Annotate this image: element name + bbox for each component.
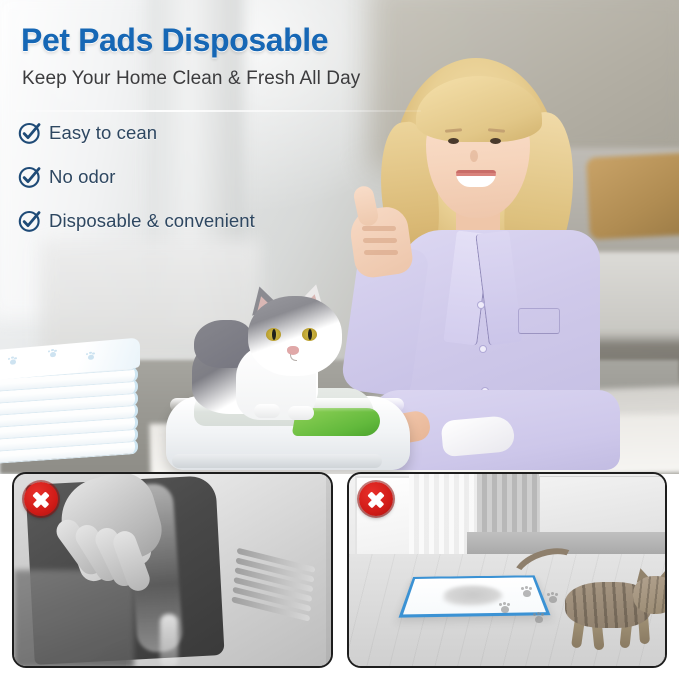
pajama-pocket [518,308,560,334]
feature-item: Easy to cean [18,118,398,148]
feature-label: Disposable & convenient [49,210,255,232]
pajama-button [478,302,484,308]
feature-item: No odor [18,162,398,192]
panel-washing [12,472,333,668]
white-sock [441,415,516,457]
eye-left [448,138,459,144]
cat-eye-right [302,328,317,341]
knuckle-line [364,250,398,255]
paw-print-icon [86,351,95,360]
shadow-area [14,570,134,668]
paw-print-icon [8,356,17,365]
x-badge-icon [359,482,393,516]
running-water [160,614,178,668]
product-poster: Pet Pads Disposable Keep Your Home Clean… [0,0,679,674]
cat-pupil [308,329,312,340]
pajama-button [480,346,486,352]
feature-label: Easy to cean [49,122,157,144]
litter-box-front-lip [172,454,382,468]
hero-image: Pet Pads Disposable Keep Your Home Clean… [0,0,679,474]
eye-right [490,138,501,144]
paw-print-icon [48,349,57,358]
pad-stack [0,352,142,456]
check-circle-icon [18,121,42,145]
kitten-head [633,576,668,614]
divider [16,110,421,112]
comparison-panels [0,472,679,668]
feature-label: No odor [49,166,116,188]
x-badge-icon [24,482,58,516]
page-title: Pet Pads Disposable [21,22,328,59]
kitten [559,556,668,656]
cat-in-litter-box [192,292,352,418]
paw-print-icon [533,612,545,623]
feature-item: Disposable & convenient [18,206,398,236]
smiling-mouth [456,170,496,187]
check-circle-icon [18,209,42,233]
nose [470,150,478,162]
panel-pee-pad [347,472,668,668]
feature-list: Easy to cean No odor Dis [18,118,398,250]
paw-print-icon [499,602,511,613]
pad-stain [442,585,504,606]
cat-paw [254,404,280,418]
check-circle-icon [18,165,42,189]
cat-paw [288,406,314,420]
cat-pupil [272,329,276,340]
page-subtitle: Keep Your Home Clean & Fresh All Day [22,68,360,90]
cat-head [248,296,342,376]
cat-eye-left [266,328,281,341]
